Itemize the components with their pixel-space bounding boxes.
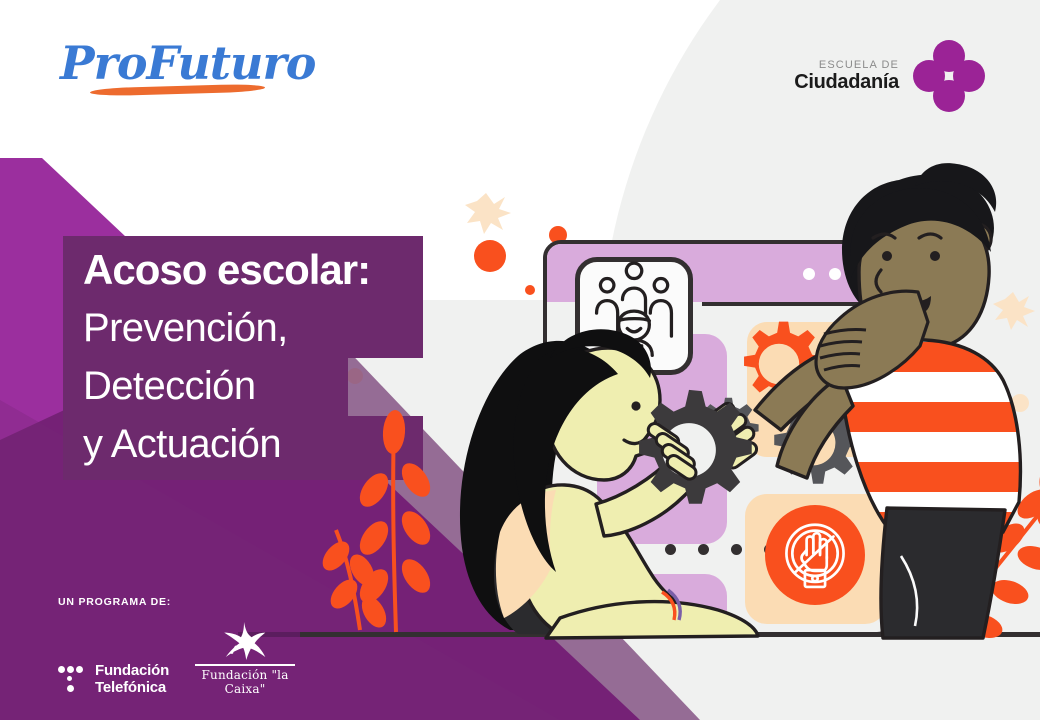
telefonica-dot (58, 666, 65, 673)
telefonica-dot (67, 676, 72, 681)
title-line-1: Acoso escolar: (63, 236, 423, 300)
telefonica-dot (67, 666, 74, 673)
profuturo-logo[interactable]: ProFuturo (60, 38, 290, 100)
footer-label: UN PROGRAMA DE: (58, 596, 295, 608)
girl-hand-on-gear (645, 415, 735, 495)
caixa-name: Fundación "la Caixa" (195, 668, 295, 696)
escuela-ciudadania-logo[interactable]: ESCUELA DE Ciudadanía (794, 40, 985, 112)
escuela-text-block: ESCUELA DE Ciudadanía (794, 59, 899, 94)
slide-canvas: ProFuturo ESCUELA DE Ciudadanía Acoso es… (0, 0, 1040, 720)
telefonica-name: Fundación Telefónica (95, 662, 169, 696)
la-caixa-star-icon (195, 622, 295, 662)
title-line-2: Prevención, (63, 300, 423, 358)
footer-logo-row: Fundación Telefónica Fundación "la Caixa… (58, 622, 295, 696)
four-circle-flower-icon (913, 40, 985, 112)
fundacion-telefonica-logo[interactable]: Fundación Telefónica (58, 662, 169, 696)
profuturo-wordmark: ProFuturo (60, 38, 290, 88)
telefonica-dot (76, 666, 83, 673)
flower-petal-bottom (933, 80, 965, 112)
telefonica-name-line2: Telefónica (95, 679, 169, 696)
caixa-star-shape (221, 622, 267, 660)
telefonica-dot (67, 685, 74, 692)
escuela-label-line2: Ciudadanía (794, 71, 899, 93)
boy-hand-pointing (800, 282, 930, 402)
fundacion-la-caixa-logo[interactable]: Fundación "la Caixa" (195, 622, 295, 696)
caixa-rule (195, 664, 295, 666)
title-line-3: Detección (63, 358, 348, 416)
telefonica-name-line1: Fundación (95, 662, 169, 679)
footer-sponsors: UN PROGRAMA DE: Fundación Telefónica (58, 596, 295, 696)
telefonica-dots-icon (58, 664, 86, 694)
escuela-label-line1: ESCUELA DE (794, 59, 899, 71)
